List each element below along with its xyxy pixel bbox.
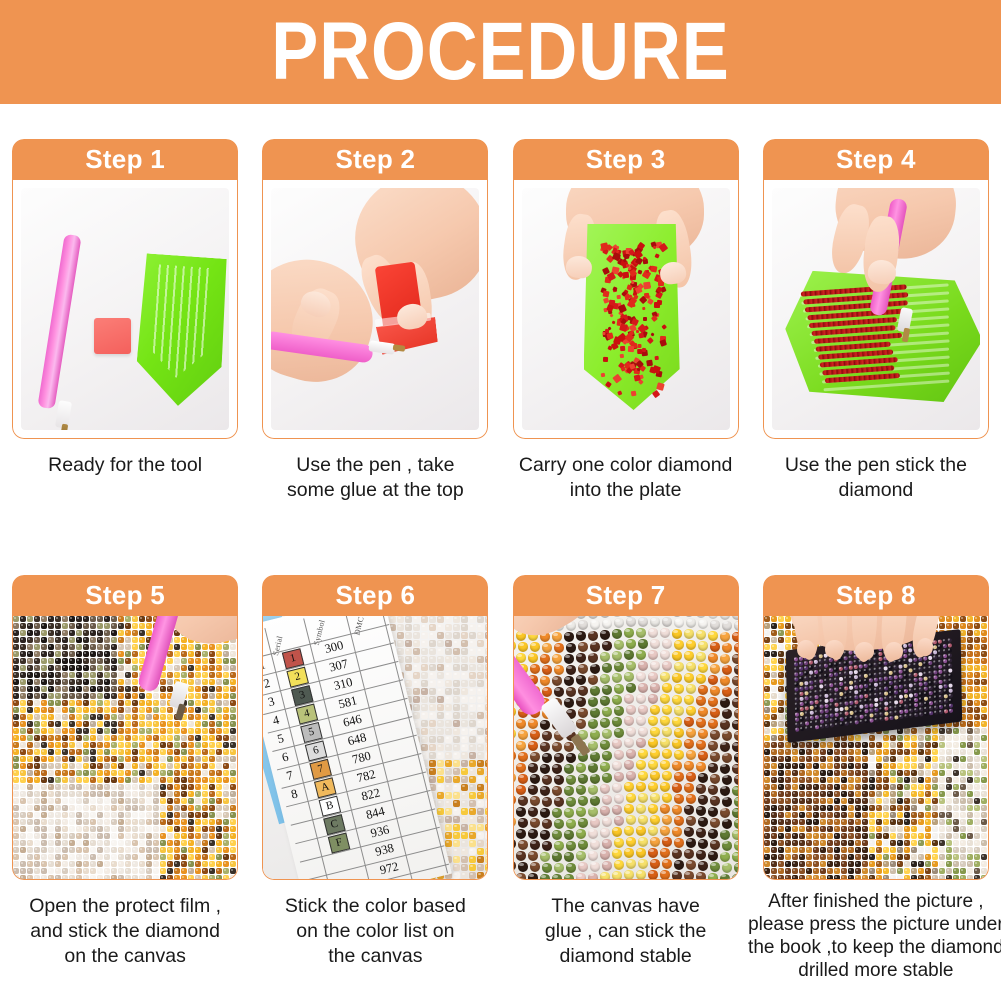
diamond-pixel <box>216 672 222 678</box>
diamond-pixel <box>34 847 40 853</box>
round-drill-bead <box>576 829 586 839</box>
diamond-pixel <box>55 644 61 650</box>
diamond-pixel <box>974 644 980 650</box>
diamond-pixel <box>118 651 124 657</box>
diamond-pixel <box>806 875 812 879</box>
diamond-pixel <box>904 861 910 867</box>
diamond-pixel <box>27 875 33 879</box>
diamond-pixel <box>813 742 819 748</box>
diamond-pixel <box>834 826 840 832</box>
diamond-pixel <box>461 744 468 751</box>
diamond-pixel <box>48 777 54 783</box>
mosaic-canvas-icon <box>13 616 237 879</box>
board-art-pixel <box>924 691 928 696</box>
board-art-pixel <box>864 669 868 674</box>
diamond-pixel <box>111 840 117 846</box>
diamond-pixel <box>104 784 110 790</box>
diamond-pixel <box>764 749 770 755</box>
diamond-pixel <box>981 840 987 846</box>
diamond-pixel <box>90 630 96 636</box>
diamond-pixel <box>869 791 875 797</box>
diamond-pixel <box>104 805 110 811</box>
round-drill-bead <box>600 850 610 860</box>
diamond-pixel <box>413 712 420 719</box>
diamond-pixel <box>477 824 484 831</box>
round-drill-bead <box>660 650 670 660</box>
round-drill-bead <box>708 653 718 663</box>
diamond-pixel <box>771 728 777 734</box>
diamond-pixel <box>13 623 19 629</box>
board-art-pixel <box>825 724 829 729</box>
diamond-pixel <box>195 875 201 879</box>
board-art-pixel <box>843 651 847 656</box>
diamond-pixel <box>34 798 40 804</box>
diamond-pixel <box>174 742 180 748</box>
board-art-pixel <box>805 721 809 726</box>
diamond-pixel <box>174 840 180 846</box>
diamond-pixel <box>461 664 468 671</box>
board-art-pixel <box>869 673 873 678</box>
diamond-pixel <box>904 763 910 769</box>
diamond-pixel <box>69 700 75 706</box>
round-drill-bead <box>638 771 648 781</box>
step-card-7[interactable]: Step 7 The canvas have glue , can stick … <box>501 575 751 982</box>
diamond-pixel <box>925 826 931 832</box>
diamond-pixel <box>209 756 215 762</box>
board-art-pixel <box>854 700 858 705</box>
diamond-pixel <box>437 656 444 663</box>
diamond-pixel <box>820 833 826 839</box>
diamond-pixel <box>904 819 910 825</box>
round-drill-bead <box>542 731 552 741</box>
step-card-2[interactable]: Step 2 <box>250 139 500 503</box>
diamond-pixel <box>771 805 777 811</box>
board-art-pixel <box>859 684 863 689</box>
round-drill-bead <box>542 775 552 785</box>
diamond-pixel <box>485 816 487 823</box>
diamond-pixel <box>904 812 910 818</box>
diamond-pixel <box>869 798 875 804</box>
diamond-pixel <box>827 819 833 825</box>
diamond-pixel <box>125 665 131 671</box>
round-drill-bead <box>734 665 738 675</box>
round-drill-bead <box>602 729 612 739</box>
round-drill-bead <box>698 795 708 805</box>
diamond-pixel <box>813 819 819 825</box>
board-art-pixel <box>909 708 913 713</box>
diamond-pixel <box>216 749 222 755</box>
round-drill-bead <box>684 629 694 639</box>
round-drill-bead <box>698 641 708 651</box>
diamond-pixel <box>174 805 180 811</box>
round-drill-bead <box>552 742 562 752</box>
diamond-pixel <box>41 623 47 629</box>
diamond-pixel <box>76 777 82 783</box>
round-drill-bead <box>720 874 730 879</box>
diamond-pixel <box>41 805 47 811</box>
diamond-pixel <box>848 875 854 879</box>
diamond-pixel <box>216 819 222 825</box>
diamond-pixel <box>925 875 931 879</box>
diamond-pixel <box>883 763 889 769</box>
diamond-pixel <box>862 784 868 790</box>
round-drill-bead <box>552 654 562 664</box>
round-drill-bead <box>650 661 660 671</box>
diamond-pixel <box>890 833 896 839</box>
diamond-pixel <box>55 700 61 706</box>
diamond-pixel <box>799 777 805 783</box>
diamond-pixel <box>827 777 833 783</box>
board-art-pixel <box>879 667 883 672</box>
board-art-pixel <box>799 677 803 682</box>
diamond-pixel <box>904 791 910 797</box>
diamond-pixel <box>27 735 33 741</box>
diamond-pixel <box>890 763 896 769</box>
diamond-pixel <box>97 637 103 643</box>
diamond-pixel <box>953 854 959 860</box>
diamond-pixel <box>904 805 910 811</box>
diamond-pixel <box>48 665 54 671</box>
diamond-pixel <box>230 819 236 825</box>
board-art-pixel <box>909 683 913 688</box>
diamond-pixel <box>953 805 959 811</box>
diamond-pixel <box>477 680 484 687</box>
board-art-pixel <box>889 696 893 701</box>
diamond-pixel <box>223 770 229 776</box>
round-drill-bead <box>686 728 696 738</box>
round-drill-bead <box>600 652 610 662</box>
board-art-pixel <box>844 706 848 711</box>
diamond-pixel <box>981 861 987 867</box>
diamond-pixel <box>939 770 945 776</box>
diamond-pixel <box>146 735 152 741</box>
diamond-pixel <box>834 861 840 867</box>
diamond-pixel <box>855 784 861 790</box>
diamond-pixel <box>771 714 777 720</box>
diamond-pixel <box>202 672 208 678</box>
diamond-pixel <box>118 805 124 811</box>
diamond-pixel <box>827 784 833 790</box>
diamond-pixel <box>27 847 33 853</box>
diamond-pixel <box>139 742 145 748</box>
diamond-pixel <box>76 735 82 741</box>
round-drill-bead <box>708 807 718 817</box>
diamond-pixel <box>34 686 40 692</box>
diamond-pixel <box>188 679 194 685</box>
board-art-pixel <box>830 713 834 718</box>
board-art-pixel <box>879 712 883 717</box>
round-drill-bead <box>708 697 718 707</box>
round-drill-bead <box>684 805 694 815</box>
diamond-pixel <box>181 728 187 734</box>
round-drill-bead <box>612 871 622 879</box>
diamond-pixel <box>461 832 468 839</box>
diamond-pixel <box>960 819 966 825</box>
diamond-pixel <box>778 770 784 776</box>
board-art-pixel <box>934 685 938 690</box>
diamond-pixel <box>125 700 131 706</box>
board-art-pixel <box>899 715 903 720</box>
round-drill-bead <box>636 650 646 660</box>
diamond-pixel <box>834 749 840 755</box>
board-art-pixel <box>865 719 869 724</box>
board-art-pixel <box>845 711 849 716</box>
diamond-pixel <box>939 812 945 818</box>
diamond-pixel <box>437 632 444 639</box>
diamond-pixel <box>118 686 124 692</box>
board-art-pixel <box>924 712 928 717</box>
diamond-pixel <box>876 819 882 825</box>
diamond-pixel <box>223 791 229 797</box>
diamond-pixel <box>918 854 924 860</box>
diamond-pixel <box>62 784 68 790</box>
board-art-pixel <box>839 672 843 677</box>
round-drill-bead <box>686 750 696 760</box>
step-card-4[interactable]: Step 4 Use the pen stick the diamond <box>751 139 1001 503</box>
diamond-pixel <box>453 760 460 767</box>
diamond-pixel <box>34 826 40 832</box>
diamond-pixel <box>855 812 861 818</box>
diamond-pixel <box>230 861 236 867</box>
board-art-pixel <box>903 644 907 649</box>
diamond-pixel <box>188 686 194 692</box>
diamond-pixel <box>764 805 770 811</box>
diamond-pixel <box>111 679 117 685</box>
round-drill-bead <box>600 784 610 794</box>
round-drill-bead <box>720 764 730 774</box>
round-drill-bead <box>662 815 672 825</box>
round-drill-bead <box>708 616 718 619</box>
diamond-pixel <box>469 872 476 879</box>
diamond-pixel <box>453 624 460 631</box>
board-art-pixel <box>904 674 908 679</box>
round-drill-bead <box>624 804 634 814</box>
diamond-drill-icon <box>642 348 646 352</box>
diamond-pixel <box>461 632 468 639</box>
diamond-pixel <box>960 854 966 860</box>
diamond-pixel <box>139 763 145 769</box>
round-drill-bead <box>650 837 660 847</box>
diamond-pixel <box>453 680 460 687</box>
diamond-pixel <box>778 854 784 860</box>
round-drill-bead <box>624 628 634 638</box>
board-art-pixel <box>859 694 863 699</box>
round-drill-bead <box>614 706 624 716</box>
board-art-pixel <box>894 695 898 700</box>
round-drill-bead <box>518 774 528 784</box>
board-art-pixel <box>934 710 938 715</box>
diamond-pixel <box>477 752 484 759</box>
diamond-pixel <box>946 798 952 804</box>
round-drill-bead <box>708 675 718 685</box>
diamond-pixel <box>13 700 19 706</box>
diamond-pixel <box>848 819 854 825</box>
diamond-pixel <box>188 749 194 755</box>
step-card-1[interactable]: Step 1 Ready for the tool <box>0 139 250 503</box>
diamond-pixel <box>223 763 229 769</box>
diamond-pixel <box>827 749 833 755</box>
diamond-pixel <box>55 742 61 748</box>
diamond-pixel <box>890 875 896 879</box>
round-drill-bead <box>590 686 600 696</box>
round-drill-bead <box>540 654 550 664</box>
round-drill-bead <box>696 828 706 838</box>
diamond-pixel <box>869 777 875 783</box>
diamond-pixel <box>953 777 959 783</box>
diamond-pixel <box>90 644 96 650</box>
diamond-pixel <box>785 840 791 846</box>
diamond-pixel <box>813 756 819 762</box>
diamond-pixel <box>83 700 89 706</box>
diamond-pixel <box>223 847 229 853</box>
step-card-8[interactable]: Step 8 After finished the picture , plea… <box>751 575 1001 982</box>
board-art-pixel <box>799 682 803 687</box>
diamond-pixel <box>883 861 889 867</box>
diamond-pixel <box>174 847 180 853</box>
diamond-pixel <box>445 800 452 807</box>
diamond-pixel <box>932 826 938 832</box>
diamond-pixel <box>209 728 215 734</box>
diamond-pixel <box>104 868 110 874</box>
diamond-pixel <box>202 840 208 846</box>
diamond-pixel <box>146 756 152 762</box>
diamond-pixel <box>806 770 812 776</box>
diamond-pixel <box>485 616 487 623</box>
diamond-pixel <box>153 728 159 734</box>
board-art-pixel <box>869 708 873 713</box>
round-drill-bead <box>722 709 732 719</box>
board-art-pixel <box>814 695 818 700</box>
diamond-pixel <box>62 798 68 804</box>
board-art-pixel <box>855 715 859 720</box>
board-art-pixel <box>849 660 853 665</box>
diamond-pixel <box>125 658 131 664</box>
diamond-pixel <box>918 798 924 804</box>
diamond-pixel <box>778 630 784 636</box>
round-drill-bead <box>684 783 694 793</box>
diamond-pixel <box>967 819 973 825</box>
diamond-pixel <box>974 784 980 790</box>
diamond-pixel <box>139 833 145 839</box>
diamond-pixel <box>139 840 145 846</box>
step-card-3[interactable]: Step 3 Carry one color diamond into the … <box>501 139 751 503</box>
diamond-pixel <box>223 693 229 699</box>
board-art-pixel <box>919 677 923 682</box>
diamond-pixel <box>918 868 924 874</box>
diamond-pixel <box>27 861 33 867</box>
diamond-pixel <box>20 868 26 874</box>
round-drill-bead <box>528 653 538 663</box>
diamond-pixel <box>939 798 945 804</box>
board-art-pixel <box>909 713 913 718</box>
diamond-pixel <box>132 651 138 657</box>
round-drill-bead <box>650 705 660 715</box>
diamond-pixel <box>34 714 40 720</box>
diamond-pixel <box>34 805 40 811</box>
diamond-pixel <box>48 707 54 713</box>
board-art-pixel <box>908 643 912 648</box>
diamond-pixel <box>20 644 26 650</box>
diamond-pixel <box>181 665 187 671</box>
diamond-pixel <box>34 693 40 699</box>
diamond-pixel <box>890 770 896 776</box>
diamond-pixel <box>967 812 973 818</box>
diamond-pixel <box>461 624 468 631</box>
diamond-pixel <box>461 768 468 775</box>
step-card-6[interactable]: Step 6 SerialSymbolDMC113002230733310445… <box>250 575 500 982</box>
diamond-pixel <box>160 826 166 832</box>
diamond-pixel <box>862 749 868 755</box>
diamond-pixel <box>202 819 208 825</box>
diamond-pixel <box>41 861 47 867</box>
diamond-pixel <box>764 665 770 671</box>
round-drill-bead <box>698 663 708 673</box>
board-art-pixel <box>794 657 798 662</box>
board-art-pixel <box>884 691 888 696</box>
diamond-pixel <box>918 826 924 832</box>
diamond-pixel <box>13 728 19 734</box>
diamond-pixel <box>477 864 484 871</box>
round-drill-bead <box>612 827 622 837</box>
diamond-pixel <box>453 768 460 775</box>
diamond-pixel <box>160 854 166 860</box>
diamond-pixel <box>477 776 484 783</box>
diamond-pixel <box>83 616 89 622</box>
step-caption-5: Open the protect film , and stick the di… <box>5 894 245 969</box>
diamond-pixel <box>69 665 75 671</box>
diamond-pixel <box>181 805 187 811</box>
diamond-pixel <box>125 784 131 790</box>
diamond-pixel <box>20 721 26 727</box>
diamond-pixel <box>90 637 96 643</box>
board-art-pixel <box>850 716 854 721</box>
diamond-pixel <box>13 840 19 846</box>
diamond-pixel <box>946 616 952 622</box>
board-art-pixel <box>928 661 932 666</box>
diamond-pixel <box>946 805 952 811</box>
board-art-pixel <box>919 707 923 712</box>
diamond-pixel <box>764 875 770 879</box>
diamond-pixel <box>188 854 194 860</box>
diamond-pixel <box>461 864 468 871</box>
diamond-pixel <box>34 623 40 629</box>
step-card-5[interactable]: Step 5 Open the protect film , and stick… <box>0 575 250 982</box>
diamond-pixel <box>153 707 159 713</box>
diamond-pixel <box>848 833 854 839</box>
diamond-pixel <box>939 756 945 762</box>
diamond-pixel <box>62 623 68 629</box>
board-art-pixel <box>804 666 808 671</box>
diamond-pixel <box>855 861 861 867</box>
board-art-pixel <box>869 668 873 673</box>
diamond-pixel <box>771 679 777 685</box>
diamond-pixel <box>41 798 47 804</box>
diamond-pixel <box>62 854 68 860</box>
diamond-pixel <box>223 819 229 825</box>
diamond-pixel <box>223 756 229 762</box>
round-drill-bead <box>720 808 730 818</box>
diamond-pixel <box>477 872 484 879</box>
diamond-pixel <box>83 777 89 783</box>
diamond-pixel <box>41 644 47 650</box>
diamond-pixel <box>764 644 770 650</box>
round-drill-bead <box>514 795 516 805</box>
diamond-pixel <box>83 665 89 671</box>
diamond-pixel <box>485 800 487 807</box>
diamond-pixel <box>981 630 987 636</box>
board-art-pixel <box>845 721 849 726</box>
board-art-pixel <box>909 688 913 693</box>
